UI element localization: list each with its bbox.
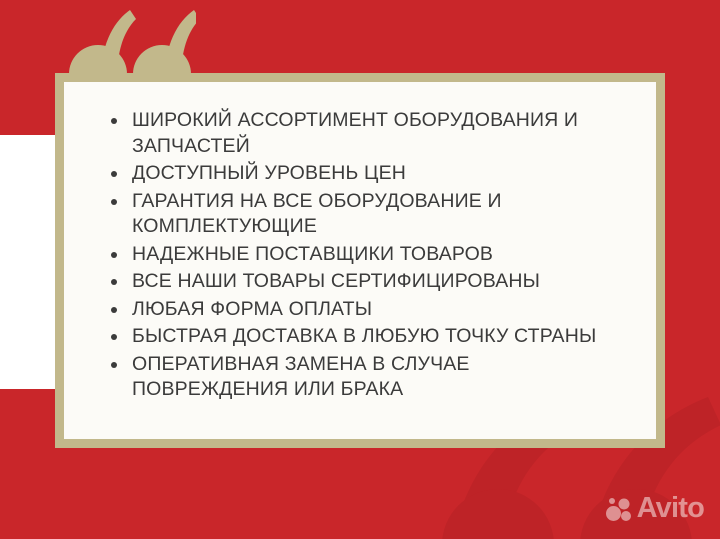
list-item: БЫСТРАЯ ДОСТАВКА В ЛЮБУЮ ТОЧКУ СТРАНЫ xyxy=(106,324,626,350)
benefits-card-inner: ШИРОКИЙ АССОРТИМЕНТ ОБОРУДОВАНИЯ И ЗАПЧА… xyxy=(64,82,656,439)
list-item: ШИРОКИЙ АССОРТИМЕНТ ОБОРУДОВАНИЯ И ЗАПЧА… xyxy=(106,108,626,159)
avito-watermark: Avito xyxy=(606,494,704,523)
avito-wordmark: Avito xyxy=(637,494,704,523)
avito-dots-icon xyxy=(606,496,632,522)
list-item: ДОСТУПНЫЙ УРОВЕНЬ ЦЕН xyxy=(106,161,626,187)
list-item: ВСЕ НАШИ ТОВАРЫ СЕРТИФИЦИРОВАНЫ xyxy=(106,269,626,295)
list-item: НАДЕЖНЫЕ ПОСТАВЩИКИ ТОВАРОВ xyxy=(106,242,626,268)
list-item: ОПЕРАТИВНАЯ ЗАМЕНА В СЛУЧАЕ ПОВРЕЖДЕНИЯ … xyxy=(106,352,626,403)
benefits-list: ШИРОКИЙ АССОРТИМЕНТ ОБОРУДОВАНИЯ И ЗАПЧА… xyxy=(106,108,626,403)
list-item: ЛЮБАЯ ФОРМА ОПЛАТЫ xyxy=(106,297,626,323)
benefits-card: ШИРОКИЙ АССОРТИМЕНТ ОБОРУДОВАНИЯ И ЗАПЧА… xyxy=(55,73,665,448)
list-item: ГАРАНТИЯ НА ВСЕ ОБОРУДОВАНИЕ И КОМПЛЕКТУ… xyxy=(106,189,626,240)
poster-canvas: ШИРОКИЙ АССОРТИМЕНТ ОБОРУДОВАНИЯ И ЗАПЧА… xyxy=(0,0,720,539)
